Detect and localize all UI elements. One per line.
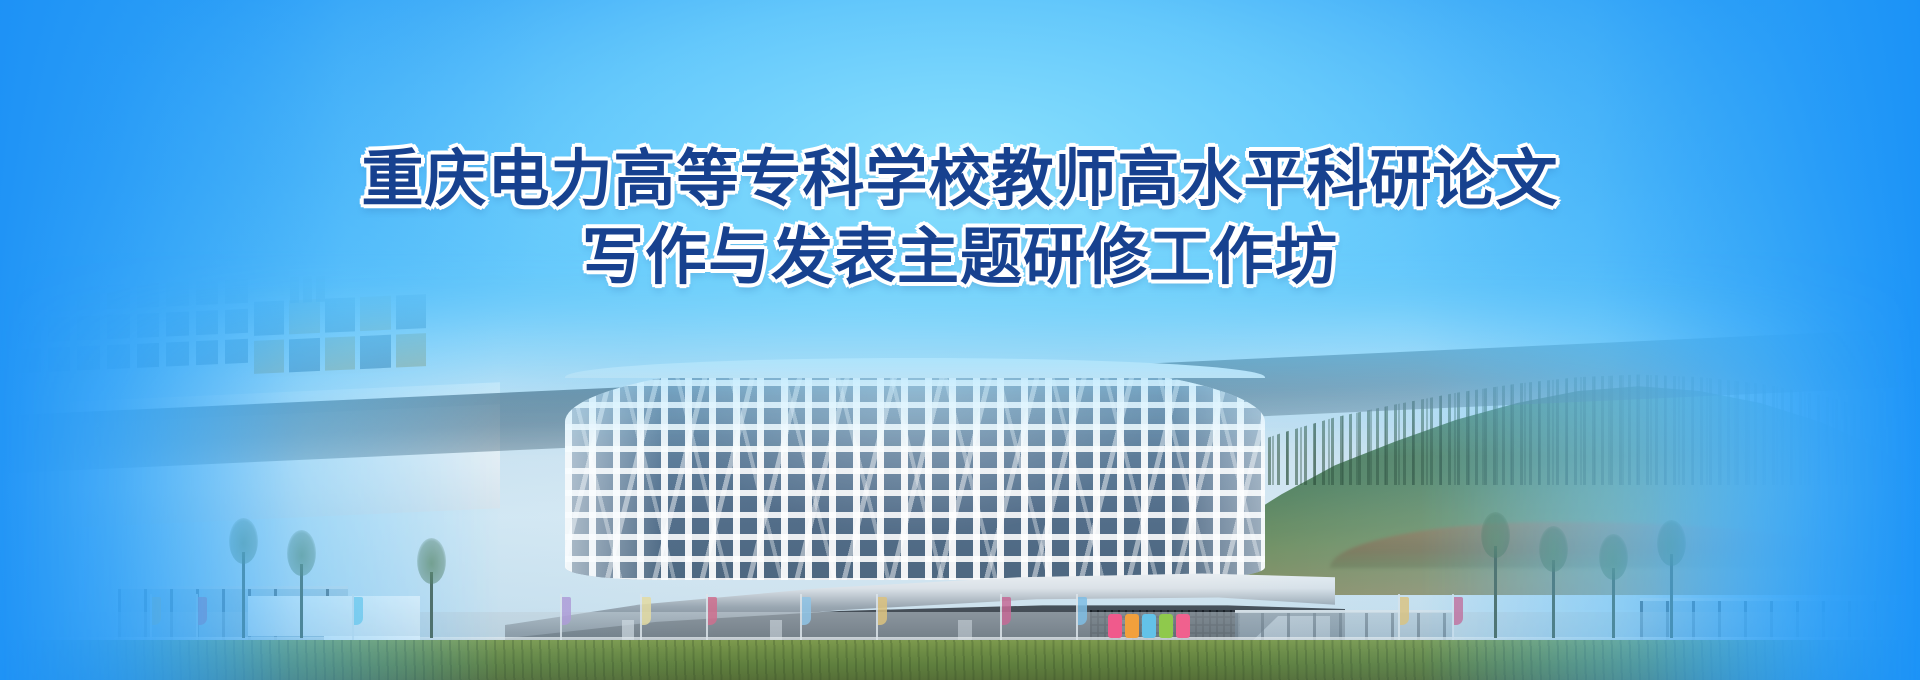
- hero-banner: 重庆电力高等专科学校教师高水平科研论文 写作与发表主题研修工作坊: [0, 0, 1920, 680]
- campus-photo: [0, 250, 1920, 680]
- photo-blue-blend-overlay: [0, 250, 1920, 680]
